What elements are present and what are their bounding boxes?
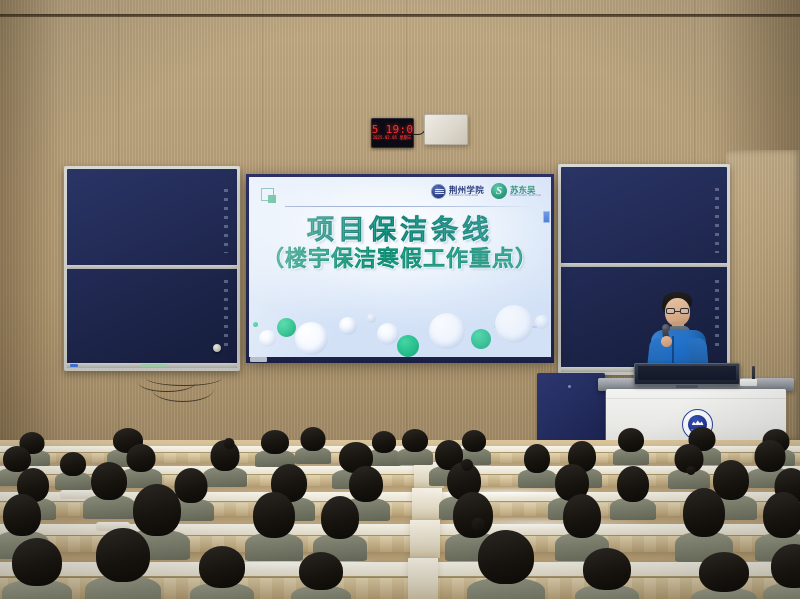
slide-bubble-decoration bbox=[249, 291, 551, 357]
center-aisle bbox=[410, 520, 440, 558]
lecture-hall-photo: 15 19:02 2025.02.05 星期三 bbox=[0, 0, 800, 599]
audience-member bbox=[696, 552, 752, 599]
audience-member bbox=[258, 430, 292, 462]
projector-label bbox=[250, 357, 267, 362]
audience-member bbox=[616, 428, 646, 461]
slide-title-block: 项目保洁条线 （楼宇保洁寒假工作重点） bbox=[249, 215, 551, 272]
clock-time-display: 15 19:02 bbox=[371, 124, 414, 136]
speaker-hand bbox=[661, 336, 672, 347]
podium-control-panel[interactable] bbox=[740, 379, 757, 386]
logo-sudongwu-subtitle: SUDONGWU SERVICE bbox=[510, 194, 541, 197]
equipment-cabinet bbox=[537, 373, 605, 445]
slide-header-rule bbox=[285, 206, 537, 207]
university-seal-icon bbox=[431, 184, 446, 199]
slide-title: 项目保洁条线 bbox=[249, 215, 551, 245]
logo-jingzhou: 荆州学院 JINGZHOU COLLEGE bbox=[431, 184, 484, 199]
wall-speaker-box bbox=[424, 114, 468, 145]
glasses-icon bbox=[666, 308, 689, 314]
led-wall-clock: 15 19:02 2025.02.05 星期三 bbox=[371, 118, 414, 148]
audience-member bbox=[672, 444, 706, 486]
audience-member bbox=[92, 528, 154, 599]
logo-sudongwu: S 苏东吴 SUDONGWU SERVICE bbox=[491, 183, 541, 199]
audience-member bbox=[58, 452, 88, 486]
slide-logos: 荆州学院 JINGZHOU COLLEGE S 苏东吴 SUDONGWU SER… bbox=[431, 183, 541, 199]
podium-monitor[interactable] bbox=[634, 363, 740, 385]
audience-member bbox=[370, 431, 398, 462]
audience-member bbox=[250, 492, 298, 558]
slide-subtitle: （楼宇保洁寒假工作重点） bbox=[249, 246, 551, 272]
audience-member bbox=[298, 427, 328, 460]
audience-member bbox=[124, 444, 158, 484]
audience-member bbox=[474, 530, 538, 599]
slide-surface: 荆州学院 JINGZHOU COLLEGE S 苏东吴 SUDONGWU SER… bbox=[249, 177, 551, 357]
s-monogram-icon: S bbox=[491, 183, 507, 199]
logo-sudongwu-name: 苏东吴 bbox=[510, 186, 541, 194]
wall-seam bbox=[0, 14, 800, 17]
clock-date-display: 2025.02.05 星期三 bbox=[373, 136, 412, 142]
audience-member bbox=[522, 444, 552, 486]
audience-member bbox=[318, 496, 362, 558]
audience-member bbox=[88, 462, 130, 516]
blackboard-left bbox=[64, 166, 240, 371]
hanging-cable bbox=[146, 370, 222, 386]
logo-jingzhou-subtitle: JINGZHOU COLLEGE bbox=[449, 194, 484, 197]
audience-member bbox=[680, 488, 728, 558]
audience-member bbox=[400, 429, 430, 461]
audience-member bbox=[296, 552, 346, 599]
audience-member bbox=[614, 466, 652, 518]
audience-member bbox=[580, 548, 634, 599]
audience-member bbox=[460, 430, 488, 461]
audience-member bbox=[196, 546, 248, 599]
audience-member bbox=[208, 440, 242, 484]
projection-screen: 荆州学院 JINGZHOU COLLEGE S 苏东吴 SUDONGWU SER… bbox=[246, 174, 554, 360]
center-aisle bbox=[408, 558, 438, 599]
logo-jingzhou-name: 荆州学院 bbox=[449, 186, 484, 194]
slide-square-fill-icon bbox=[268, 195, 276, 203]
audience-member bbox=[8, 538, 66, 599]
audience-member bbox=[560, 494, 604, 558]
center-aisle bbox=[412, 488, 442, 520]
